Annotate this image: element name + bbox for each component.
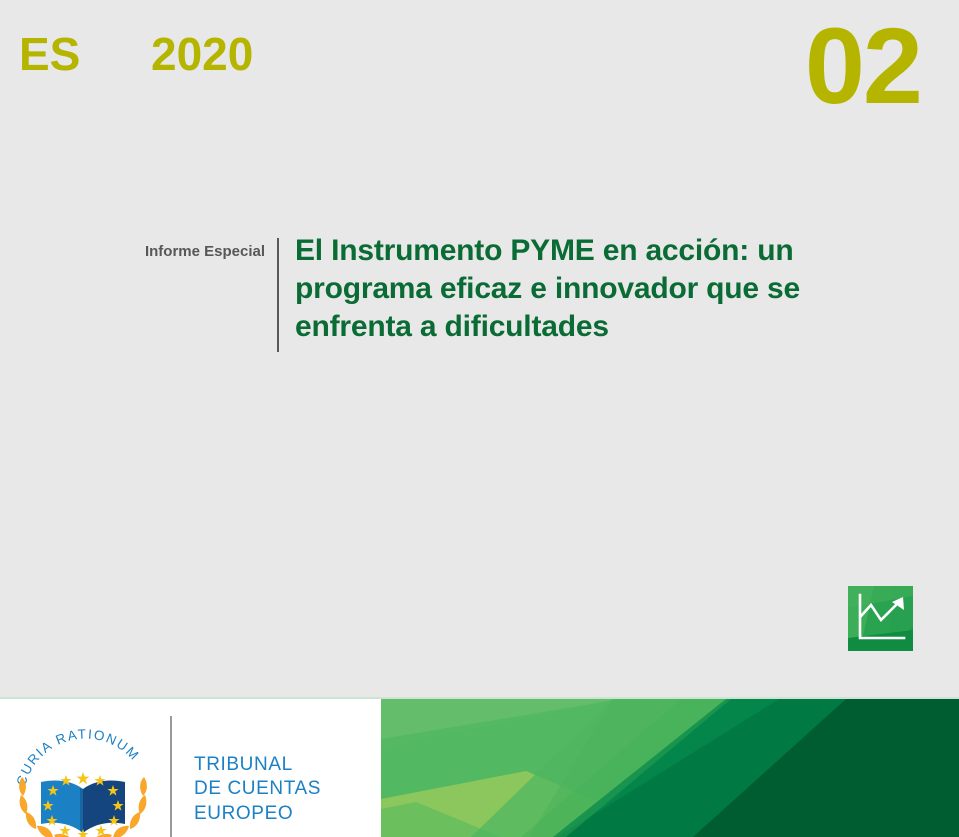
page-title: El Instrumento PYME en acción: un progra… — [295, 232, 895, 345]
report-type-label: Informe Especial — [113, 243, 265, 261]
organisation-name-line-1: TRIBUNAL — [194, 753, 321, 777]
report-number: 02 — [805, 12, 921, 120]
logo-divider — [170, 716, 172, 837]
organisation-name-line-2: DE CUENTAS — [194, 777, 321, 801]
line-chart-growth-icon — [848, 586, 913, 651]
organisation-name-line-3: EUROPEO — [194, 802, 321, 826]
report-cover: ES 2020 02 Informe Especial El Instrumen… — [0, 0, 959, 837]
footer: CURIA RATIONUM — [0, 697, 959, 837]
organisation-name: TRIBUNAL DE CUENTAS EUROPEO — [194, 753, 321, 826]
publication-year: 2020 — [151, 31, 253, 77]
language-code: ES — [19, 31, 80, 77]
eca-emblem: CURIA RATIONUM — [8, 709, 158, 837]
title-divider-rule — [277, 238, 279, 352]
green-angular-pattern — [381, 699, 959, 837]
svg-text:CURIA RATIONUM: CURIA RATIONUM — [13, 726, 142, 787]
